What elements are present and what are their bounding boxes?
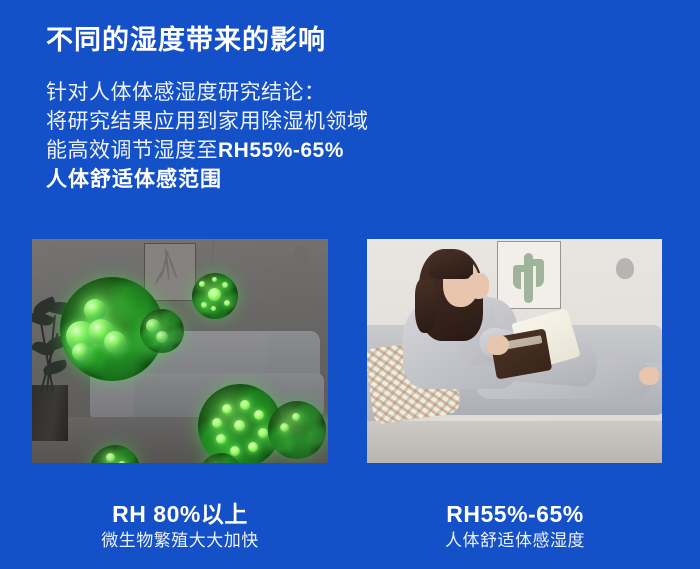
body-copy: 针对人体体感湿度研究结论： 将研究结果应用到家用除湿机领域 能高效调节湿度至RH… xyxy=(46,78,369,194)
microbe-spike xyxy=(240,400,250,410)
room-floor xyxy=(367,421,662,463)
promo-slide: 不同的湿度带来的影响 针对人体体感湿度研究结论： 将研究结果应用到家用除湿机领域… xyxy=(0,0,700,569)
person-foot xyxy=(639,367,659,385)
microbe-cell xyxy=(84,299,106,321)
microbe-sphere-edge xyxy=(90,445,140,463)
pendant-cord xyxy=(212,239,214,275)
body-copy-line-1: 针对人体体感湿度研究结论： xyxy=(46,78,369,107)
microbe-spike xyxy=(199,281,205,287)
photo-comfort-humidity xyxy=(367,239,662,463)
microbe-sphere-partial xyxy=(140,309,184,353)
body-copy-line-2: 将研究结果应用到家用除湿机领域 xyxy=(46,107,369,136)
caption-comfort-humidity: RH55%-65% 人体舒适体感湿度 xyxy=(367,500,663,554)
person-hair-front xyxy=(429,251,473,279)
person-hand xyxy=(467,273,489,299)
microbe-texture xyxy=(90,445,140,463)
body-copy-line-3-prefix: 能高效调节湿度至 xyxy=(46,139,218,162)
wall-speaker xyxy=(294,246,309,263)
humidity-range-highlight: RH55%-65% xyxy=(218,139,344,162)
caption-right-main: RH55%-65% xyxy=(367,500,663,528)
microbe-spike xyxy=(106,453,115,462)
microbe-spike xyxy=(201,302,207,308)
microbe-sphere-hanging xyxy=(192,273,238,319)
caption-high-humidity: RH 80%以上 微生物繁殖大大加快 xyxy=(32,500,328,554)
body-copy-line-4: 人体舒适体感范围 xyxy=(46,165,369,194)
microbe-spike xyxy=(222,404,232,414)
caption-left-main: RH 80%以上 xyxy=(32,500,328,528)
cactus-art-icon xyxy=(513,265,527,272)
microbe-spike xyxy=(211,306,216,311)
microbe-cell xyxy=(156,331,168,343)
microbe-cell xyxy=(104,331,126,353)
microbe-texture xyxy=(200,453,242,463)
page-title: 不同的湿度带来的影响 xyxy=(46,18,326,57)
body-copy-line-3: 能高效调节湿度至RH55%-65% xyxy=(46,136,369,165)
caption-left-sub: 微生物繁殖大大加快 xyxy=(32,528,328,554)
microbe-cell xyxy=(72,343,90,361)
microbe-spike xyxy=(216,434,226,444)
microbe-spike xyxy=(222,282,228,288)
person-hand xyxy=(487,335,509,355)
microbe-spike xyxy=(280,423,289,432)
photo-high-humidity xyxy=(32,239,328,463)
cactus-art-icon xyxy=(530,259,544,266)
microbe-spike xyxy=(248,442,258,452)
microbe-spike xyxy=(292,413,300,421)
microbe-spike xyxy=(118,461,126,463)
plant-pot xyxy=(32,385,68,441)
microbe-spike xyxy=(254,410,264,420)
microbe-sphere-edge xyxy=(200,453,242,463)
microbe-spike xyxy=(212,418,222,428)
wall-speaker xyxy=(616,258,634,279)
caption-right-sub: 人体舒适体感湿度 xyxy=(367,528,663,554)
microbe-texture xyxy=(268,401,326,459)
microbe-spike xyxy=(208,288,221,301)
microbe-spike xyxy=(234,420,245,431)
microbe-spike xyxy=(224,300,230,306)
person-hair-strand xyxy=(415,279,437,333)
microbe-sphere-edge xyxy=(268,401,326,459)
microbe-spike xyxy=(212,277,217,282)
microbe-spike xyxy=(258,428,268,438)
